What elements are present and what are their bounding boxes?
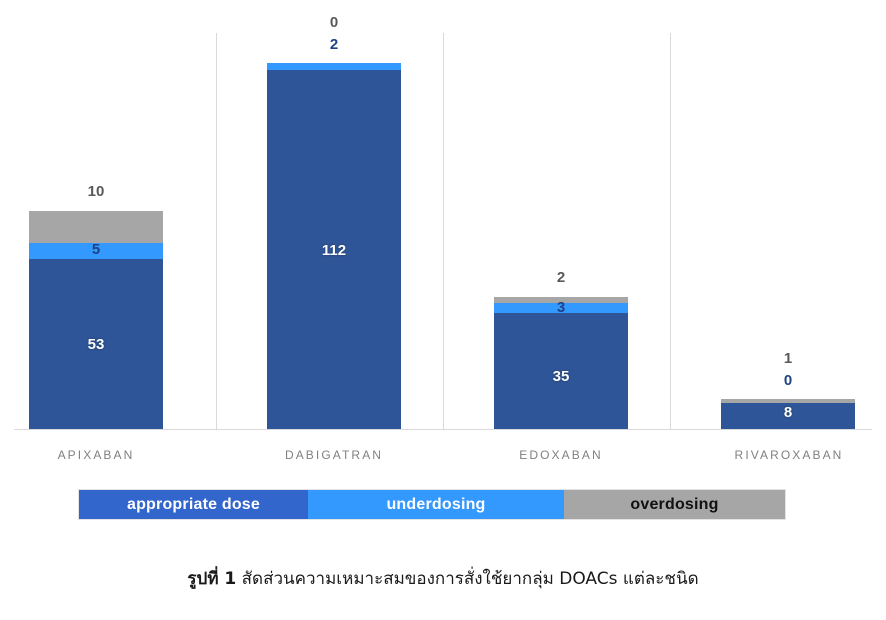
category-label-rivaroxaban: RIVAROXABAN xyxy=(714,448,864,462)
bar-label-underdosing: 5 xyxy=(29,242,163,257)
bar-label-appropriate: 8 xyxy=(721,405,855,420)
bar-segment-underdosing[interactable] xyxy=(267,63,401,70)
category-separator-2 xyxy=(443,33,444,429)
bar-rivaroxaban[interactable]: 1 0 8 xyxy=(721,399,855,429)
bar-label-overdosing: 2 xyxy=(494,270,628,285)
bar-segment-overdosing[interactable] xyxy=(29,211,163,243)
bar-label-overdosing: 1 xyxy=(721,351,855,366)
category-label-dabigatran: DABIGATRAN xyxy=(267,448,401,462)
category-label-apixaban: APIXABAN xyxy=(29,448,163,462)
category-separator-3 xyxy=(670,33,671,429)
legend-item-overdosing[interactable]: overdosing xyxy=(564,490,785,519)
figure-caption: รูปที่ 1 สัดส่วนความเหมาะสมของการสั่งใช้… xyxy=(0,565,886,592)
bar-label-appropriate: 35 xyxy=(494,369,628,384)
x-axis-line xyxy=(14,429,872,430)
bar-label-underdosing: 3 xyxy=(494,300,628,315)
chart-figure: 10 5 53 0 2 112 2 3 35 1 0 8 APIXABAN DA… xyxy=(0,0,886,620)
bar-dabigatran[interactable]: 0 2 112 xyxy=(267,63,401,429)
bar-label-overdosing: 0 xyxy=(267,15,401,30)
figure-caption-number: รูปที่ 1 xyxy=(187,569,236,589)
bar-label-overdosing: 10 xyxy=(29,184,163,199)
chart-legend: appropriate dose underdosing overdosing xyxy=(78,489,786,520)
bar-edoxaban[interactable]: 2 3 35 xyxy=(494,297,628,429)
bar-label-underdosing: 0 xyxy=(721,373,855,388)
legend-item-underdosing[interactable]: underdosing xyxy=(308,490,564,519)
legend-item-appropriate-dose[interactable]: appropriate dose xyxy=(79,490,308,519)
bar-label-appropriate: 53 xyxy=(29,337,163,352)
figure-caption-text: สัดส่วนความเหมาะสมของการสั่งใช้ยากลุ่ม D… xyxy=(236,569,698,589)
bar-label-underdosing: 2 xyxy=(267,37,401,52)
bar-apixaban[interactable]: 10 5 53 xyxy=(29,211,163,429)
category-separator-1 xyxy=(216,33,217,429)
category-label-edoxaban: EDOXABAN xyxy=(494,448,628,462)
bar-label-appropriate: 112 xyxy=(267,243,401,258)
